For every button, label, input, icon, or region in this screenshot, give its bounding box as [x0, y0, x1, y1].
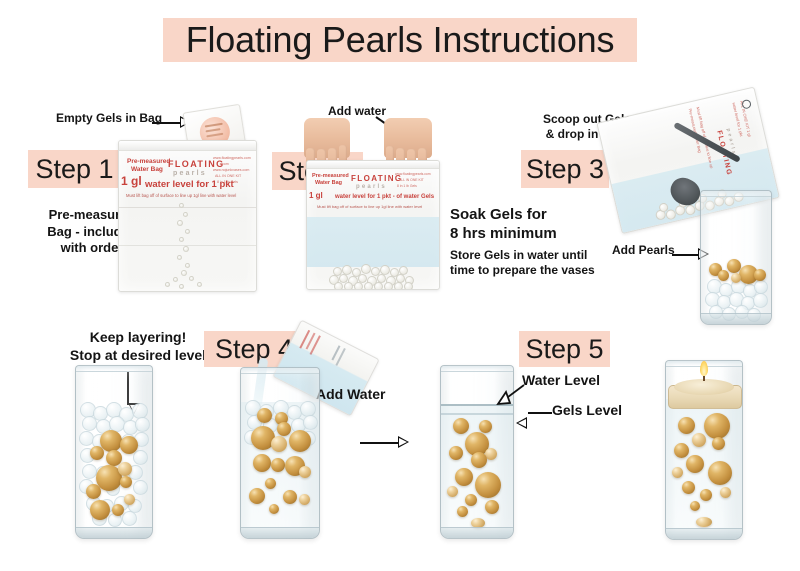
- empty-gels-arrow-shaft: [152, 122, 182, 124]
- bag-print-waterbag: Water Bag: [131, 166, 163, 173]
- bag-side-print-5: 8 in 1 lb Gels: [217, 180, 238, 184]
- water-level-arrow: [492, 382, 526, 408]
- add-pearls-arrow-shaft: [672, 254, 700, 256]
- bag-brand-pearls: pearls: [173, 170, 207, 177]
- add-water-step4-callout: Add Water: [316, 386, 408, 404]
- bag-side-print-3: www.nojunkvases.com: [213, 168, 249, 172]
- final-candle-vase: [665, 360, 743, 540]
- water-level-callout: Water Level: [522, 372, 622, 390]
- store-gels-note: Store Gels in water until time to prepar…: [450, 248, 610, 279]
- gels-level-arrow-shaft: [528, 412, 552, 414]
- step-1-chip: Step 1: [28, 150, 121, 188]
- page-title: Floating Pearls Instructions: [163, 18, 637, 62]
- candle-top: [674, 379, 734, 395]
- step-4-filled-vase: [240, 367, 320, 539]
- empty-gels-callout: Empty Gels in Bag: [56, 111, 180, 126]
- step-2-water-bag: Pre-measured Water Bag FLOATING pearls w…: [306, 160, 440, 290]
- step-3-vase: [700, 190, 772, 325]
- bag-side-print-4: ALL IN ONE KIT: [215, 174, 241, 178]
- keep-layering-callout: Keep layering! Stop at desired level: [55, 329, 221, 365]
- step-4-layered-vase: [75, 365, 153, 539]
- candle-flame: [700, 361, 708, 376]
- bag-print-volume: 1 gl: [121, 174, 142, 188]
- gels-level-arrow-head: [516, 417, 527, 429]
- bag-print-fine: Must lift bag off of surface to line up …: [126, 193, 236, 198]
- gels-level-callout: Gels Level: [552, 402, 652, 420]
- step-5-chip: Step 5: [519, 331, 610, 367]
- soak-gels-heading: Soak Gels for 8 hrs minimum: [450, 205, 610, 243]
- transition-arrow-head: [398, 436, 409, 448]
- infographic-page: Floating Pearls Instructions Empty Gels …: [0, 0, 800, 571]
- step-1-water-bag: Pre-measured Water Bag FLOATING pearls 1…: [118, 140, 257, 292]
- step-3-chip: Step 3: [521, 150, 609, 188]
- gels-level-line: [441, 413, 513, 415]
- bag-side-print-2: .com: [221, 162, 229, 166]
- transition-arrow-shaft: [360, 442, 400, 444]
- add-pearls-callout: Add Pearls: [612, 243, 686, 258]
- bag-side-print-1: www.floatingpearls.com: [213, 156, 251, 160]
- bag-print-premeasured: Pre-measured: [127, 158, 170, 165]
